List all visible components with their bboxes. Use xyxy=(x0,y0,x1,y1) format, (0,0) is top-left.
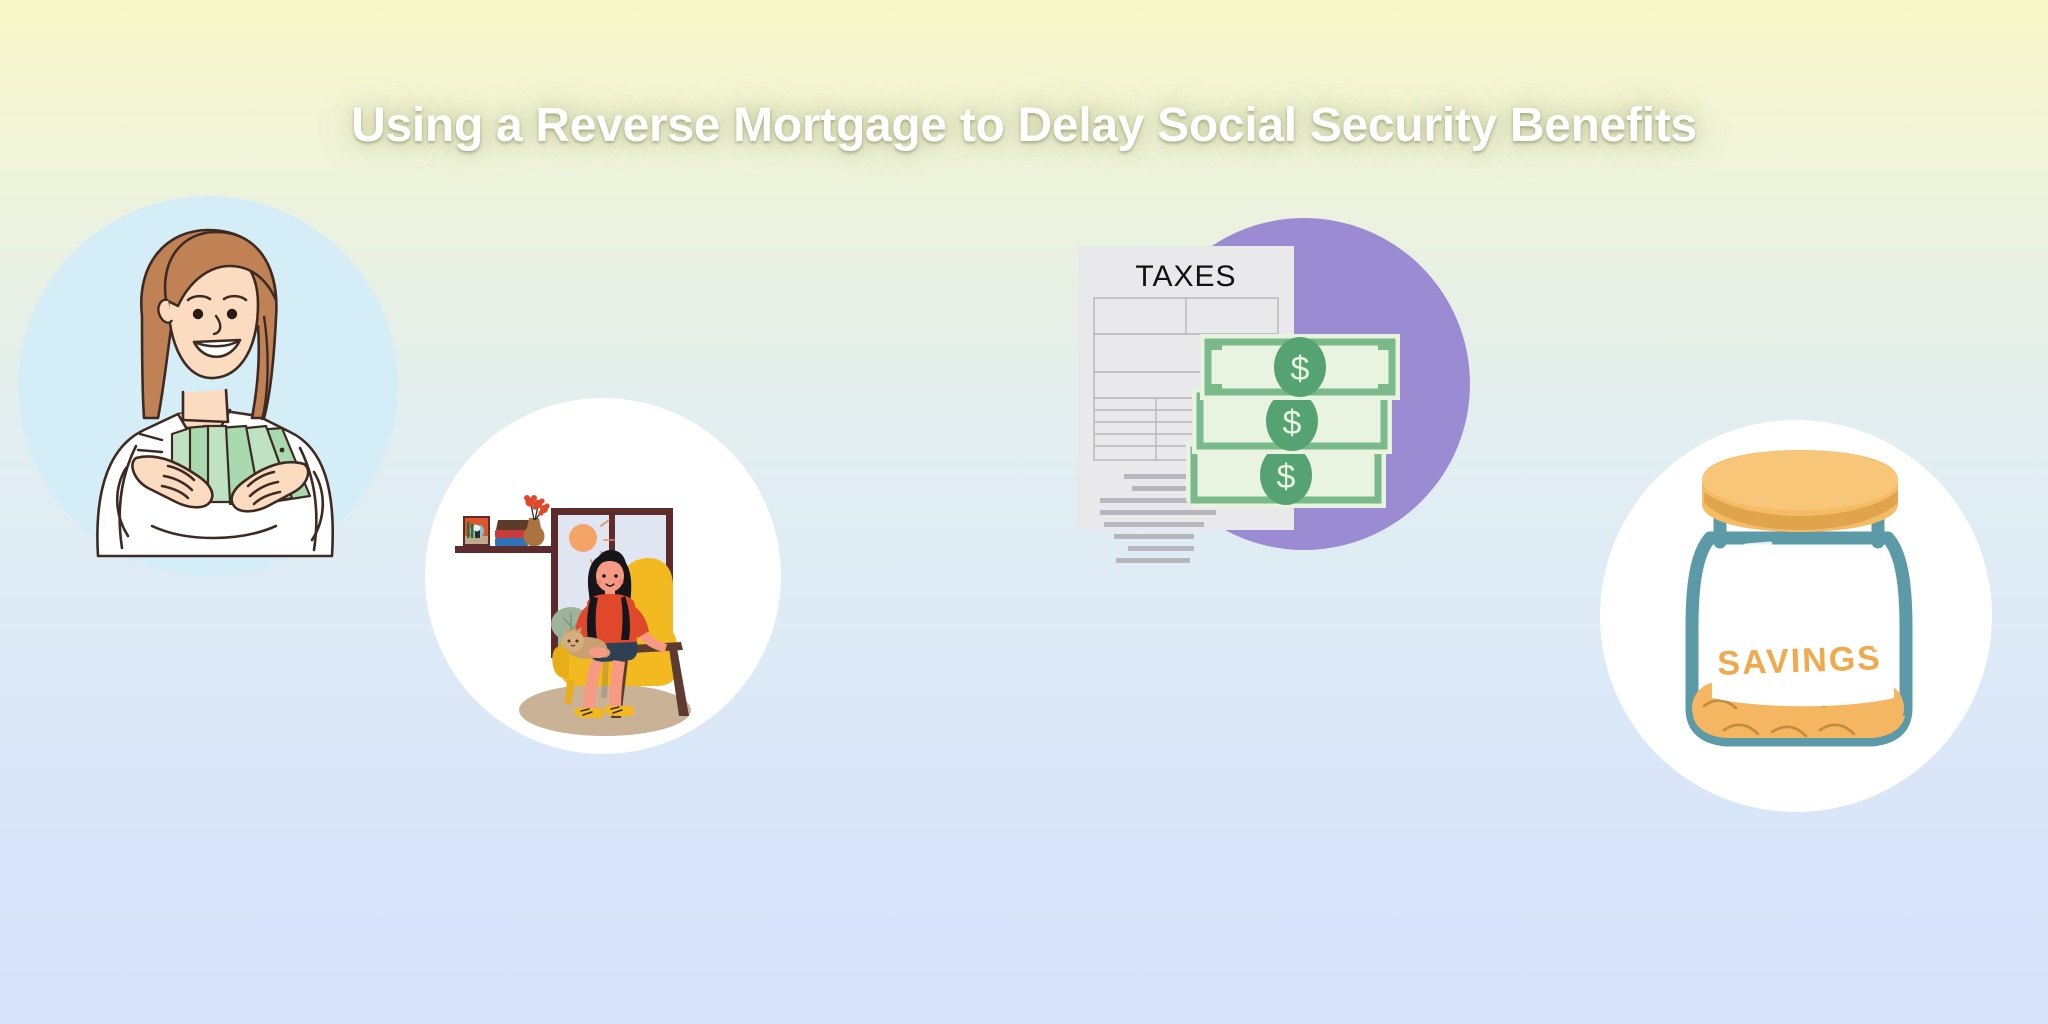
taxes-document-title: TAXES xyxy=(1135,260,1236,293)
illustration-taxes-document: TAXES xyxy=(1078,218,1438,578)
wall-shelf xyxy=(455,495,551,553)
jar-label-text: SAVINGS xyxy=(1717,639,1883,683)
woman-cash-artwork xyxy=(18,196,418,596)
jar-label: SAVINGS xyxy=(1712,626,1894,706)
svg-text:$: $ xyxy=(1283,404,1302,442)
page-title: Using a Reverse Mortgage to Delay Social… xyxy=(0,98,2048,153)
taxes-artwork: TAXES xyxy=(1078,218,1478,618)
dollar-bill-stack: $ $ $ xyxy=(1186,334,1400,508)
jar-lid xyxy=(1702,450,1898,532)
illustration-woman-in-armchair xyxy=(425,398,785,758)
svg-text:$: $ xyxy=(1291,350,1310,388)
savings-jar-artwork: SAVINGS xyxy=(1600,420,2000,820)
illustration-savings-jar: SAVINGS xyxy=(1600,420,2000,820)
illustration-woman-holding-cash xyxy=(18,196,418,596)
home-scene-artwork xyxy=(425,398,785,758)
dollar-bill: $ xyxy=(1200,334,1400,400)
svg-text:$: $ xyxy=(1277,458,1296,496)
